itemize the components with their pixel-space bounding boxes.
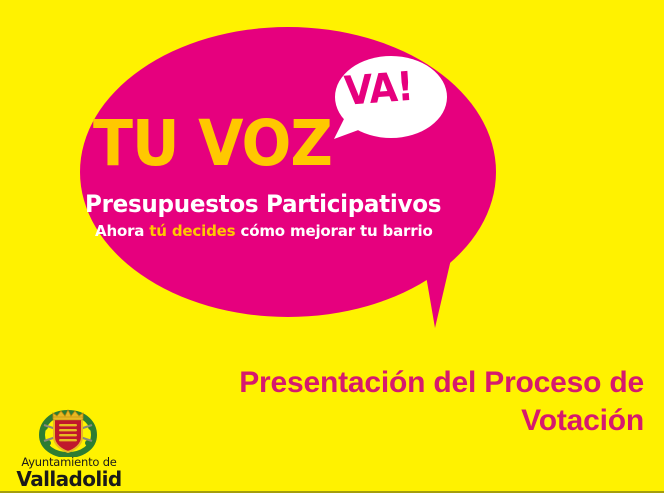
page-title: Presentación del Proceso de Votación — [154, 364, 644, 441]
tagline-highlight: tú decides — [149, 222, 235, 240]
brand-tagline: Ahora tú decides cómo mejorar tu barrio — [95, 224, 512, 240]
city-logo: Ayuntamiento de Valladolid — [14, 407, 124, 489]
badge-va: VA! — [343, 67, 414, 112]
brand-subtitle: Presupuestos Participativos — [85, 192, 488, 216]
coat-of-arms-icon — [38, 407, 98, 457]
wordmark-tu-voz: TU VOZ — [93, 112, 332, 175]
tagline-prefix: Ahora — [95, 222, 149, 240]
city-logo-line-2: Valladolid — [14, 469, 124, 489]
page-title-line-2: Votación — [154, 402, 644, 440]
tagline-suffix: cómo mejorar tu barrio — [235, 222, 432, 240]
page-title-line-1: Presentación del Proceso de — [154, 364, 644, 402]
presentation-slide: TU VOZ VA! Presupuestos Participativos A… — [0, 0, 664, 493]
brand-block: TU VOZ VA! Presupuestos Participativos A… — [0, 0, 664, 340]
